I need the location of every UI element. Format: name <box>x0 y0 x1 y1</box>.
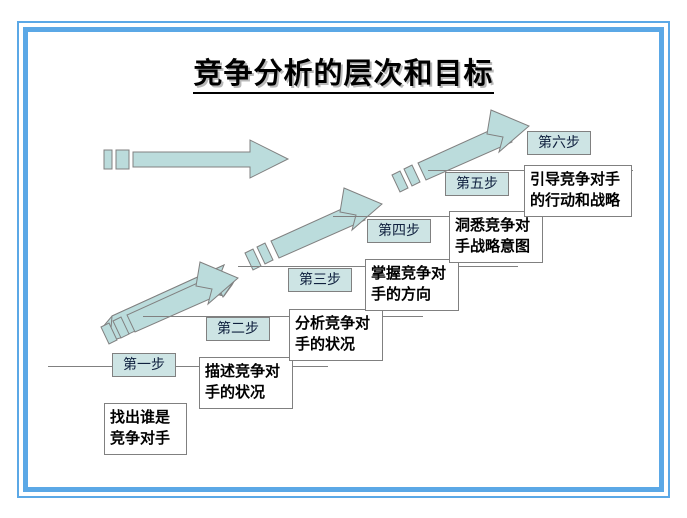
step-chip-2[interactable]: 第二步 <box>206 317 270 341</box>
step-chip-6-label: 第六步 <box>538 135 580 151</box>
step-chip-2-label: 第二步 <box>217 321 259 337</box>
step-chip-1[interactable]: 第一步 <box>112 353 176 377</box>
page-title-text: 竞争分析的层次和目标 <box>193 56 493 94</box>
description-box-4[interactable]: 掌握竞争对 手的方向 <box>365 259 459 311</box>
description-box-1[interactable]: 找出谁是 竞争对手 <box>104 403 187 455</box>
step-chip-5-label: 第五步 <box>456 176 498 192</box>
description-box-6[interactable]: 引导竞争对手 的行动和战略 <box>524 165 632 217</box>
description-box-5[interactable]: 洞悉竞争对 手战略意图 <box>449 211 543 263</box>
description-box-2[interactable]: 描述竞争对 手的状况 <box>199 357 293 409</box>
step-chip-3[interactable]: 第三步 <box>288 268 352 292</box>
description-box-3[interactable]: 分析竞争对 手的状况 <box>289 309 383 361</box>
step-chip-4-label: 第四步 <box>378 223 420 239</box>
horizontal-arrow <box>104 140 288 178</box>
diagonal-arrow-2 <box>245 188 382 270</box>
step-chip-3-label: 第三步 <box>299 272 341 288</box>
slide-canvas: 竞争分析的层次和目标 <box>0 0 687 518</box>
step-chip-6[interactable]: 第六步 <box>527 131 591 155</box>
step-chip-5[interactable]: 第五步 <box>445 172 509 196</box>
step-chip-4[interactable]: 第四步 <box>367 219 431 243</box>
step-chip-1-label: 第一步 <box>123 357 165 373</box>
page-title: 竞争分析的层次和目标 <box>0 50 687 92</box>
